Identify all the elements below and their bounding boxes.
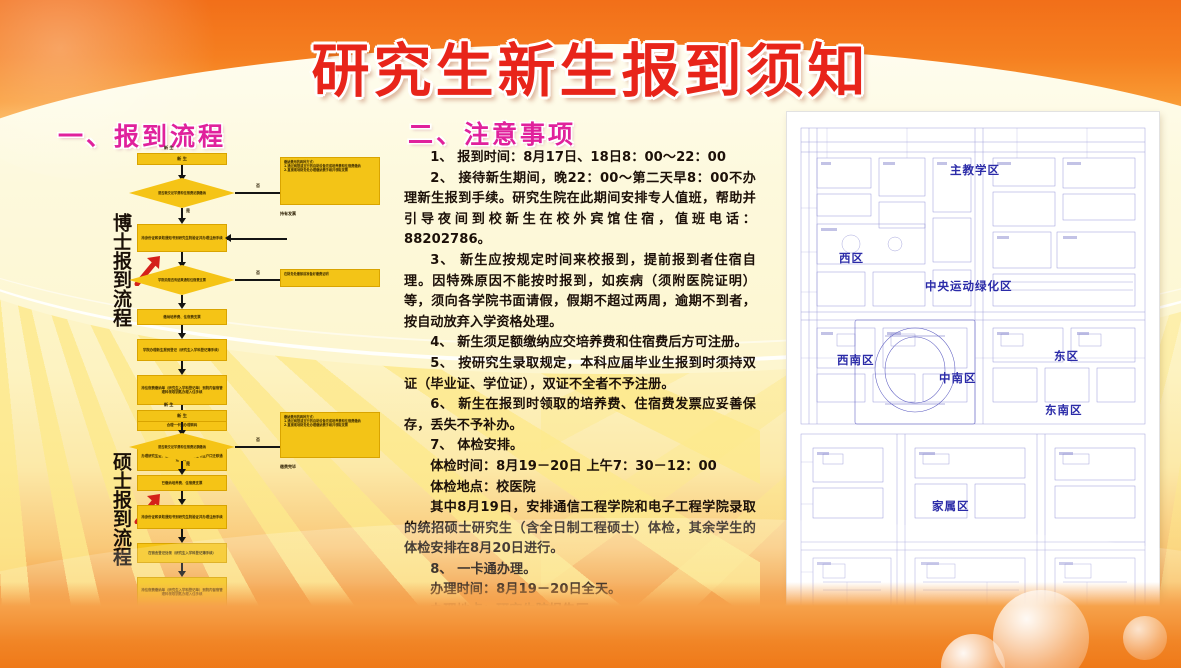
notice-item: 5、 按研究生录取规定，本科应届毕业生报到时须持双证（毕业证、学位证），双证不全… [404,354,756,395]
map-zone-label-southwest: 西南区 [837,352,875,368]
flow-sidenote-master-0: 缴纳费用的两种方式： 1.通过网银或支行的自助设备完成培养费和住宿费缴纳 2.直… [280,412,380,458]
poster-root: 研究生新生报到须知 一、报到流程 二、注意事项 博士报到流程 硕士报到流程 新 … [0,0,1181,668]
flow-node-doctoral-3: 学院尚是否有结果通知住宿费支票 [129,265,235,295]
section-heading-notices: 二、注意事项 [408,115,576,151]
map-zone-label-family: 家属区 [932,498,970,514]
map-zone-label-southeast: 东南区 [1045,402,1083,418]
flow-node-master-3: 持身份证和录取通知书到研究生院验证并办理注册手续 [137,505,227,529]
map-zone-label-central-sports: 中央运动绿化区 [925,278,1013,294]
flow-node-doctoral-6: 持住宿费缴纳单（研究生入学科登记单）到院内留宿管理科领取钥匙办理入住手续 [137,375,227,405]
flow-node-doctoral-2: 持身份证和录取通知书到研究生院验证并办理注册手续 [137,224,227,252]
map-zone-label-west: 西区 [839,250,864,266]
flow-sidenote-doctoral-0: 缴纳费用的两种方式： 1.通过网银或支行的自助设备完成培养费和住宿费缴纳 2.直… [280,157,380,205]
flow-sidenote-doctoral-1: 在财务处缴部前准备好缴费证明 [280,269,380,287]
flow-node-doctoral-1: 是否款交足学费和住宿费足额缴纳 [129,178,235,208]
flow-node-doctoral-0: 新 生 [137,153,227,165]
map-zone-label-central-south: 中南区 [939,370,977,386]
flow-node-master-1: 是否款交足学费和住宿费足额缴纳 [129,433,235,461]
flow-node-master-2: 已缴纳培养费、住宿费支票 [137,475,227,491]
map-zone-label-main-teaching: 主教学区 [950,162,1000,178]
flow-start-caption-master: 新 生 [164,402,173,408]
flow-node-doctoral-4: 缴纳培养费、住宿费支票 [137,309,227,325]
flow-start-caption-doctoral: 新 生 [164,145,173,151]
notice-detail: 体检地点：校医院 [404,478,756,499]
notice-item: 3、 新生应按规定时间来校报到，提前报到者住宿自理。因特殊原因不能按时报到，如疾… [404,251,756,333]
notice-item: 7、 体检安排。 [404,436,756,457]
flow-sidenote-caption-doctoral: 持有发票 [280,211,296,217]
flow-node-doctoral-5: 学院办理新生报到登记（研究生入学科登记簿手续） [137,339,227,361]
map-zone-label-east: 东区 [1054,348,1079,364]
flow-sidenote-caption-master: 缴费完毕 [280,464,296,470]
notice-item: 1、 报到时间：8月17日、18日8：00～22：00 [404,148,756,169]
notice-item: 6、 新生在报到时领取的培养费、住宿费发票应妥善保存，丢失不予补办。 [404,395,756,436]
notice-item: 4、 新生须足额缴纳应交培养费和住宿费后方可注册。 [404,333,756,354]
decorative-bubble [1123,616,1167,660]
notice-item: 2、 接待新生期间，晚22：00～第二天早8：00不办理新生报到手续。研究生院在… [404,169,756,251]
flow-node-master-0: 新 生 [137,410,227,422]
page-title: 研究生新生报到须知 [0,24,1181,108]
notice-detail: 体检时间：8月19－20日 上午7：30－12：00 [404,457,756,478]
